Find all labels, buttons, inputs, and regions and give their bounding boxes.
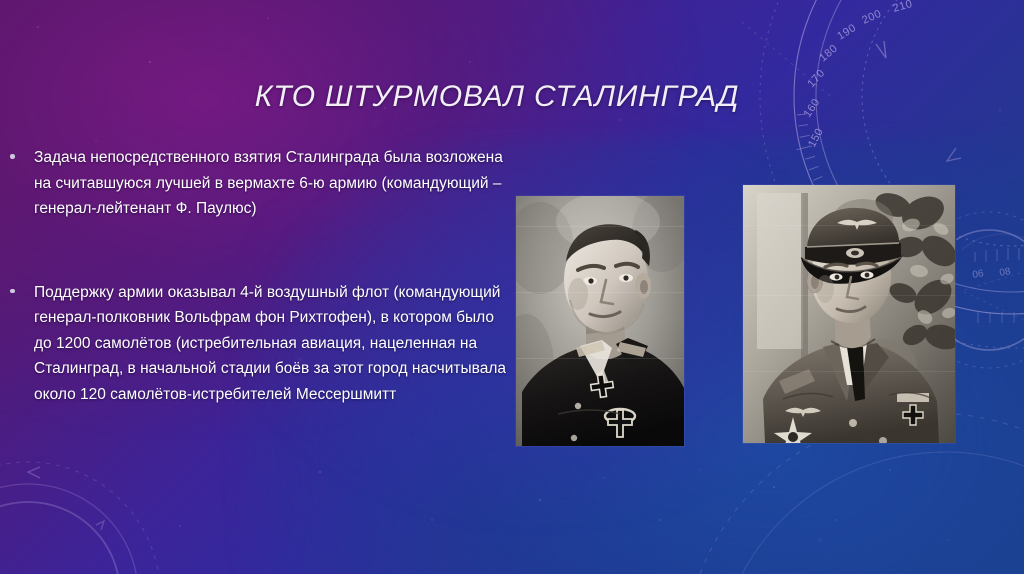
bullet-marker-icon xyxy=(10,280,34,294)
photo-paulus xyxy=(516,196,684,446)
bullet-marker-icon xyxy=(10,145,34,159)
bullet-text-paulus: Задача непосредственного взятия Сталингр… xyxy=(34,145,510,222)
photo-richthofen xyxy=(743,185,955,443)
presentation-slide: 150 160 170 180 190 200 210 06 08 КТО ШТ… xyxy=(0,0,1024,574)
bullet-text-luftflotte: Поддержку армии оказывал 4-й воздушный ф… xyxy=(34,280,510,408)
slide-title: КТО ШТУРМОВАЛ СТАЛИНГРАД xyxy=(0,80,1024,114)
bullet-item-luftflotte: Поддержку армии оказывал 4-й воздушный ф… xyxy=(10,280,510,408)
slide-body-content: Задача непосредственного взятия Сталингр… xyxy=(10,145,510,407)
bullet-item-paulus: Задача непосредственного взятия Сталингр… xyxy=(10,145,510,222)
